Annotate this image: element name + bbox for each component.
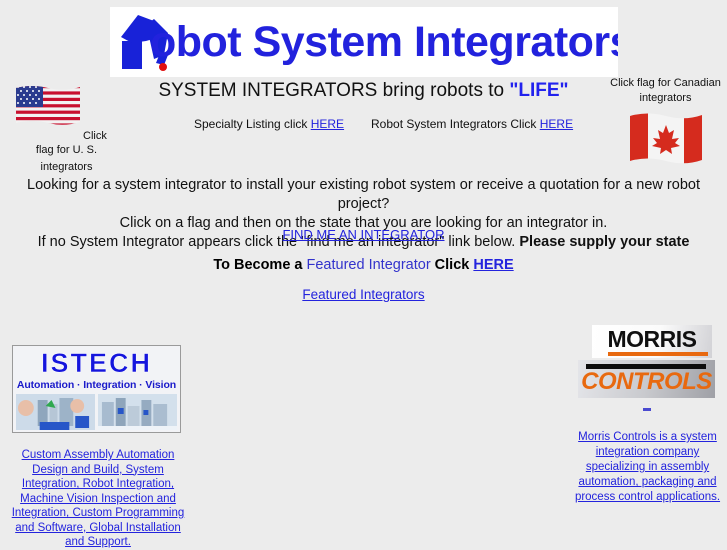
istech-logo-word: ISTECH	[13, 348, 180, 379]
specialty-listing-row: Specialty Listing click HERE	[194, 117, 344, 131]
us-flag-block[interactable]: Click flag for U. S. integrators	[4, 82, 129, 172]
istech-logo-subtitle: Automation · Integration · Vision	[13, 379, 180, 391]
us-caption-line2: flag for U. S.	[4, 142, 129, 159]
specialty-listing-link[interactable]: HERE	[311, 117, 344, 131]
featured-integrators-row: Featured Integrators	[0, 287, 727, 302]
canada-flag-caption: Click flag for Canadian integrators	[604, 76, 727, 106]
istech-photo-right	[98, 394, 177, 430]
find-integrator-row: FIND ME AN INTEGRATOR	[0, 227, 727, 242]
istech-caption-link[interactable]: Custom Assembly Automation Design and Bu…	[8, 448, 188, 550]
morris-logo-bottom[interactable]: CONTROLS	[578, 360, 715, 398]
morris-caption-link[interactable]: Morris Controls is a system integration …	[570, 430, 725, 505]
page-root: obot System Integrators SYSTEM INTEGRATO…	[0, 0, 727, 545]
istech-photo-left	[16, 394, 95, 430]
find-me-an-integrator-link[interactable]: FIND ME AN INTEGRATOR	[282, 227, 444, 242]
canada-caption-line2: integrators	[604, 91, 727, 106]
body-line-1: Looking for a system integrator to insta…	[0, 176, 727, 214]
canada-flag-block[interactable]: Click flag for Canadian integrators	[604, 76, 727, 174]
morris-separator	[643, 408, 651, 411]
canada-caption-line1: Click flag for Canadian	[604, 76, 727, 91]
banner-title: obot System Integrators	[150, 12, 618, 72]
istech-photo-strip	[16, 394, 177, 430]
robot-system-integrators-row: Robot System Integrators Click HERE	[371, 117, 573, 131]
canada-flag-icon[interactable]	[628, 110, 704, 168]
become-featured-highlight: Featured Integrator	[307, 257, 431, 273]
banner-inner: obot System Integrators	[110, 7, 618, 77]
us-caption-line3: integrators	[4, 159, 129, 176]
robot-system-integrators-label: Robot System Integrators Click	[371, 117, 540, 131]
become-featured-row: To Become a Featured Integrator Click HE…	[0, 257, 727, 273]
site-banner: obot System Integrators	[110, 7, 618, 77]
morris-logo-word-top: MORRIS	[592, 326, 712, 353]
become-featured-click: Click	[431, 257, 474, 273]
istech-logo-card[interactable]: ISTECH Automation · Integration · Vision	[12, 345, 181, 433]
tagline-highlight: "LIFE"	[509, 80, 568, 101]
become-featured-link[interactable]: HERE	[473, 257, 513, 273]
morris-orange-bar	[608, 352, 708, 356]
specialty-listing-label: Specialty Listing click	[194, 117, 311, 131]
us-flag-icon[interactable]	[14, 84, 82, 130]
morris-logo-top[interactable]: MORRIS	[592, 325, 712, 358]
morris-logo-word-bottom: CONTROLS	[578, 368, 715, 396]
robot-system-integrators-link[interactable]: HERE	[540, 117, 573, 131]
featured-integrators-link[interactable]: Featured Integrators	[302, 287, 424, 302]
become-featured-prefix: To Become a	[213, 257, 306, 273]
tagline-text: SYSTEM INTEGRATORS bring robots to	[158, 80, 509, 101]
